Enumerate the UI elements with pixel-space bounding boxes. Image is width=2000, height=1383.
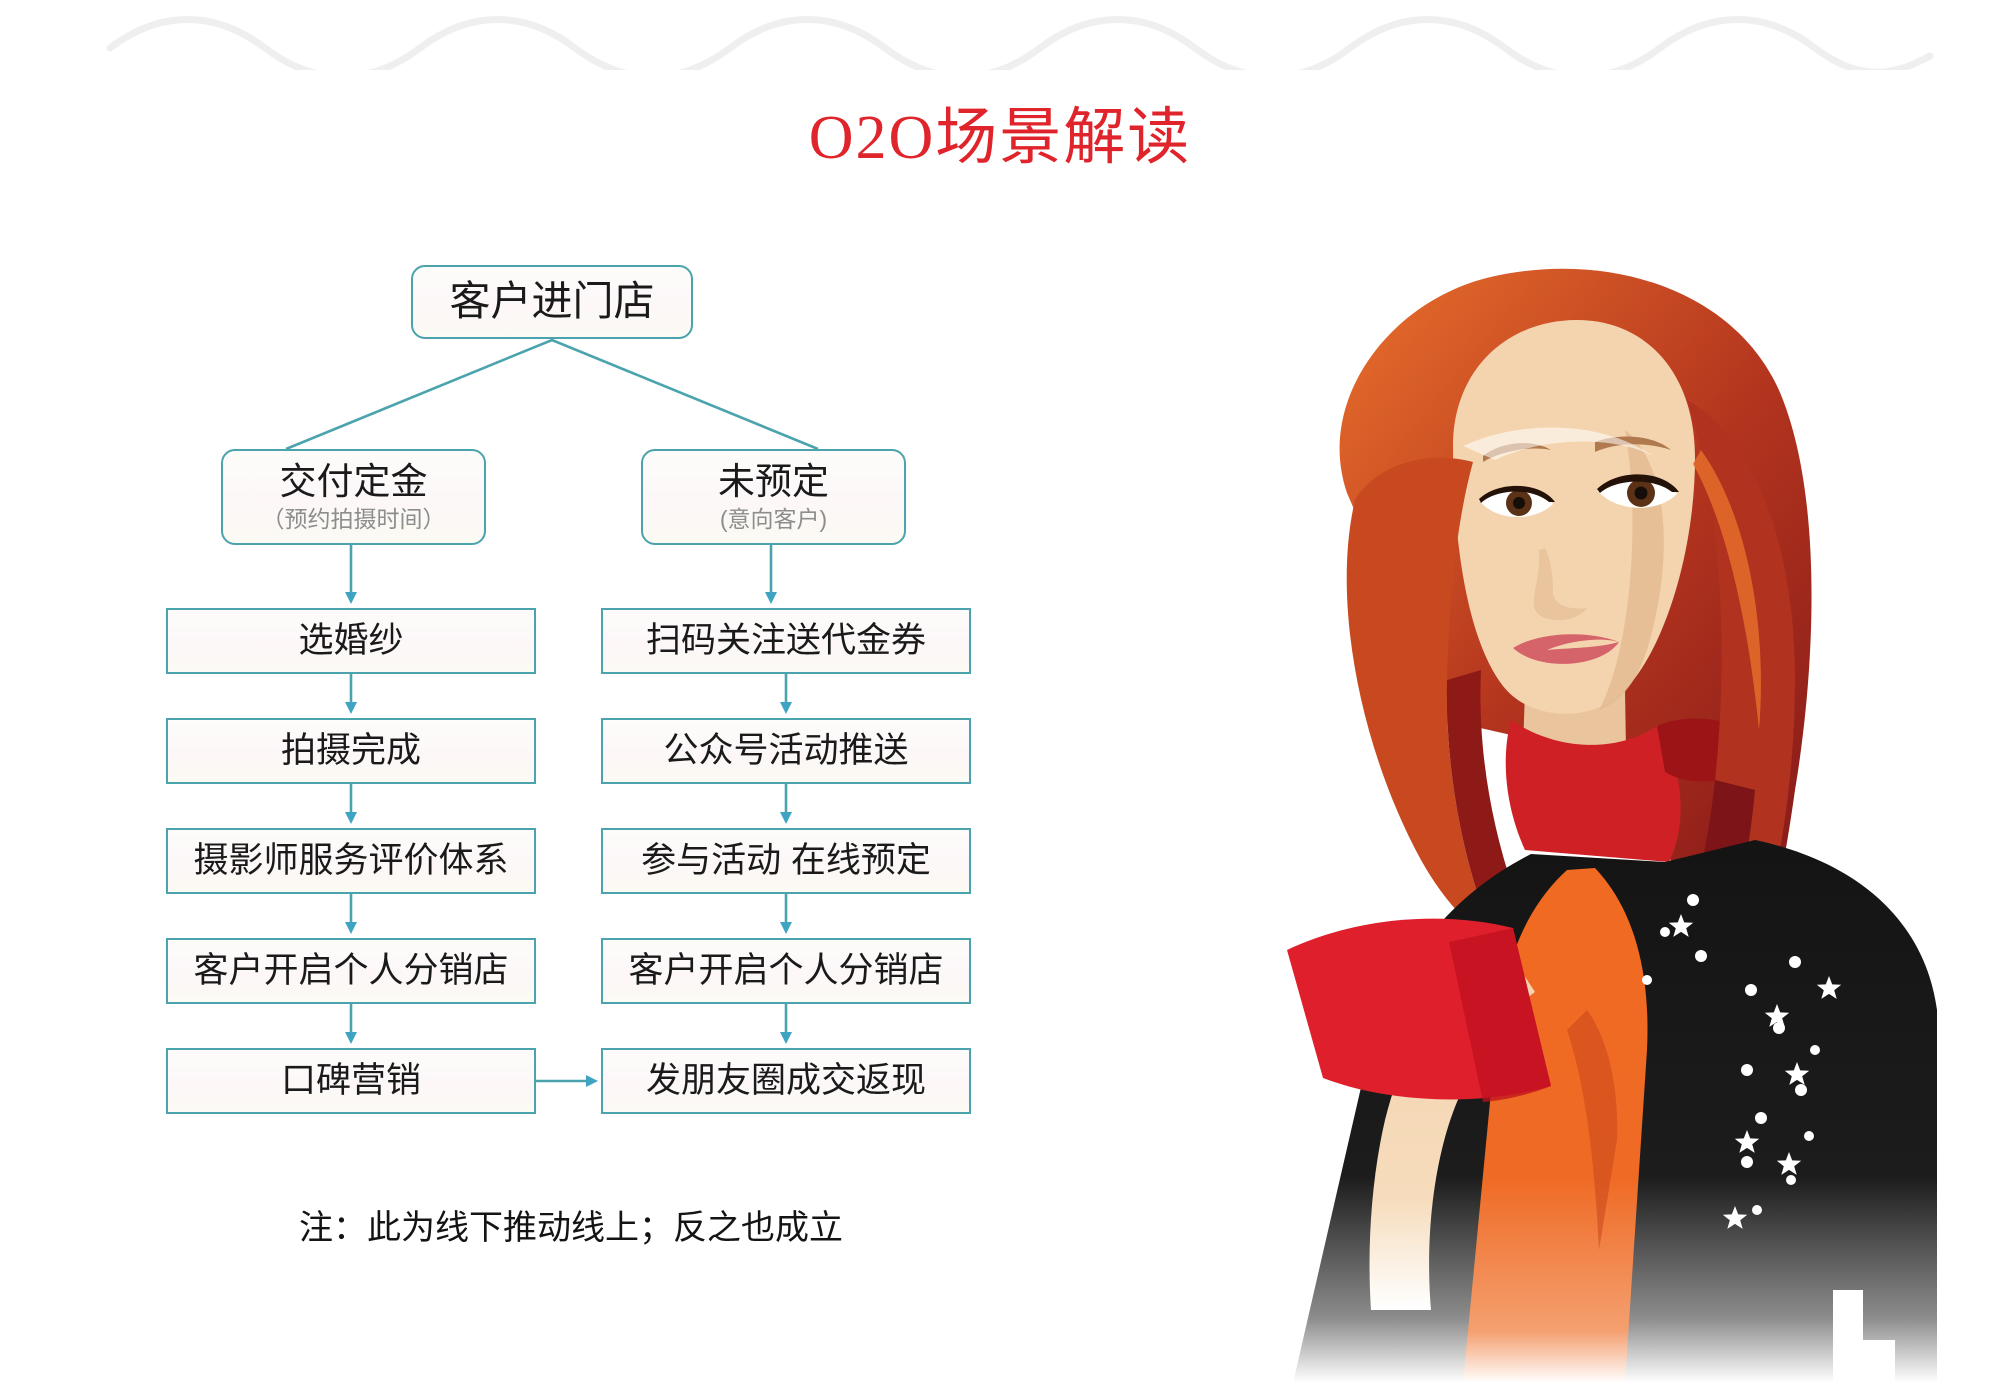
pupil-right: [1635, 487, 1648, 500]
node-left-3-label: 摄影师服务评价体系: [193, 841, 508, 880]
node-left-5[interactable]: 口碑营销: [166, 1048, 536, 1114]
flow-diagram: 客户进门店 交付定金 （预约拍摄时间） 未预定 (意向客户) 选婚纱 拍摄完成 …: [0, 0, 1060, 1383]
node-right-5[interactable]: 发朋友圈成交返现: [601, 1048, 971, 1114]
node-right-1-label: 扫码关注送代金券: [646, 621, 926, 660]
node-root[interactable]: 客户进门店: [411, 265, 693, 339]
flow-connectors: [0, 0, 1060, 1383]
node-right-4[interactable]: 客户开启个人分销店: [601, 938, 971, 1004]
slide-canvas: O2O场景解读: [0, 0, 2000, 1383]
node-left-4-label: 客户开启个人分销店: [193, 951, 508, 990]
node-right-5-label: 发朋友圈成交返现: [646, 1061, 926, 1100]
node-right-4-label: 客户开启个人分销店: [628, 951, 943, 990]
node-deposit-sublabel: （预约拍摄时间）: [262, 507, 446, 533]
node-deposit[interactable]: 交付定金 （预约拍摄时间）: [221, 449, 486, 545]
node-root-label: 客户进门店: [450, 279, 655, 325]
node-no-booking[interactable]: 未预定 (意向客户): [641, 449, 906, 545]
node-left-1-label: 选婚纱: [298, 621, 403, 660]
node-deposit-label: 交付定金: [280, 461, 428, 502]
node-right-3-label: 参与活动 在线预定: [641, 841, 931, 880]
node-no-booking-sublabel: (意向客户): [720, 507, 827, 533]
diagram-footnote: 注：此为线下推动线上；反之也成立: [166, 1200, 976, 1249]
node-left-4[interactable]: 客户开启个人分销店: [166, 938, 536, 1004]
node-left-2[interactable]: 拍摄完成: [166, 718, 536, 784]
node-left-3[interactable]: 摄影师服务评价体系: [166, 828, 536, 894]
node-right-2-label: 公众号活动推送: [663, 731, 908, 770]
node-left-5-label: 口碑营销: [281, 1061, 421, 1100]
node-no-booking-label: 未预定: [718, 461, 829, 502]
pupil-left: [1513, 497, 1525, 509]
node-right-1[interactable]: 扫码关注送代金券: [601, 608, 971, 674]
node-right-3[interactable]: 参与活动 在线预定: [601, 828, 971, 894]
woman-illustration: [1195, 250, 1955, 1383]
node-right-2[interactable]: 公众号活动推送: [601, 718, 971, 784]
node-left-2-label: 拍摄完成: [281, 731, 421, 770]
node-left-1[interactable]: 选婚纱: [166, 608, 536, 674]
